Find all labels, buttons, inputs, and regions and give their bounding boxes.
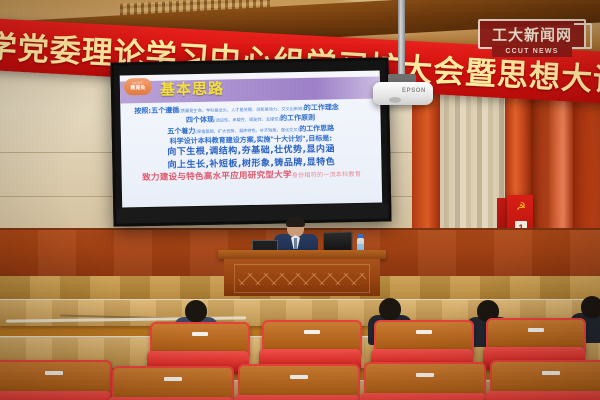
attendee-head <box>185 300 207 322</box>
speaker-tie <box>294 238 297 249</box>
slide-line-main: 按照:五个遵循 <box>134 106 179 115</box>
auditorium-photo: ☭ 1 学党委理论学习中心组学习扩大会暨思想大讨论动员研讨会 工大新闻网 CCU… <box>0 0 600 400</box>
attendee-head <box>379 298 401 320</box>
watermark-frame-accent <box>574 23 592 49</box>
slide-line-tail: 的工作理念 <box>304 103 339 112</box>
ceiling-projector: EPSON <box>373 82 433 105</box>
slide-title: 基本思路 <box>160 78 224 100</box>
seat-number-plate <box>528 328 543 332</box>
presentation-slide: CCUT 教育处 基本思路 按照:五个遵循(质量是生命、学科是龙头、人才是关键、… <box>120 71 382 208</box>
slide-line-detail: (厚植基础、扩大优势、凝练特色、补齐短板、强化交叉) <box>195 127 299 134</box>
seat-number-plate <box>45 371 63 375</box>
slide-line-main: 五个着力 <box>167 127 195 136</box>
slide-line-tail: 的工作原则 <box>280 114 315 123</box>
seat-number-plate <box>192 332 207 336</box>
seat-number-plate <box>542 371 561 375</box>
attendee-head <box>581 296 600 318</box>
projector-lens-icon <box>389 97 401 103</box>
seat-cushion <box>0 391 111 400</box>
seat-number-plate <box>164 377 183 381</box>
speaker-person <box>274 218 318 254</box>
slide-line-detail: (适应性、承载性、赋能性、支撑性) <box>214 117 280 123</box>
party-emblem-icon: ☭ <box>515 201 527 213</box>
slide-badge-label: 教育处 <box>130 85 145 92</box>
speaker-hair <box>286 217 305 227</box>
auditorium-seat[interactable] <box>364 362 482 400</box>
podium-top <box>218 250 386 259</box>
seat-cushion <box>486 391 600 400</box>
slide-line-tail: 的工作思路 <box>299 124 334 133</box>
seat-number-plate <box>416 330 431 334</box>
slide-closing-main: 致力建设与特色高水平应用研究型大学 <box>142 170 292 183</box>
auditorium-seat[interactable] <box>238 364 356 400</box>
podium-zigzag-ornament <box>238 273 366 285</box>
seat-cushion <box>360 393 485 400</box>
auditorium-seat[interactable] <box>112 366 230 400</box>
seat-number-plate <box>290 375 309 379</box>
slide-line-main: 四个体现 <box>186 116 214 125</box>
watermark-english: CCUT NEWS <box>492 46 572 57</box>
news-watermark: 工大新闻网 CCUT NEWS <box>474 17 594 59</box>
auditorium-seat[interactable] <box>490 360 600 400</box>
water-bottle-cap <box>358 234 363 238</box>
slide-badge: CCUT 教育处 <box>124 78 152 96</box>
podium-body <box>224 259 380 296</box>
slide-body: 按照:五个遵循(质量是生命、学科是龙头、人才是关键、创新是动力、交叉出新知)的工… <box>120 104 381 187</box>
seat-cushion <box>234 395 359 400</box>
seat-number-plate <box>416 373 435 377</box>
watermark-chinese: 工大新闻网 <box>492 24 572 45</box>
projector-pole <box>398 0 405 76</box>
projector-brand: EPSON <box>402 88 426 94</box>
slide-closing-line: 致力建设与特色高水平应用研究型大学身份相符的一流本科教育 <box>122 170 382 184</box>
watermark-frame: 工大新闻网 <box>478 19 586 49</box>
slide-line-detail: (质量是生命、学科是龙头、人才是关键、创新是动力、交叉出新知) <box>179 106 304 113</box>
podium-desk <box>224 250 380 296</box>
slide-closing-tail: 身份相符的一流本科教育 <box>292 171 361 179</box>
projection-screen: CCUT 教育处 基本思路 按照:五个遵循(质量是生命、学科是龙头、人才是关键、… <box>110 57 391 226</box>
auditorium-seat[interactable] <box>0 360 108 400</box>
seat-number-plate <box>304 330 319 334</box>
seat-back <box>112 366 234 400</box>
